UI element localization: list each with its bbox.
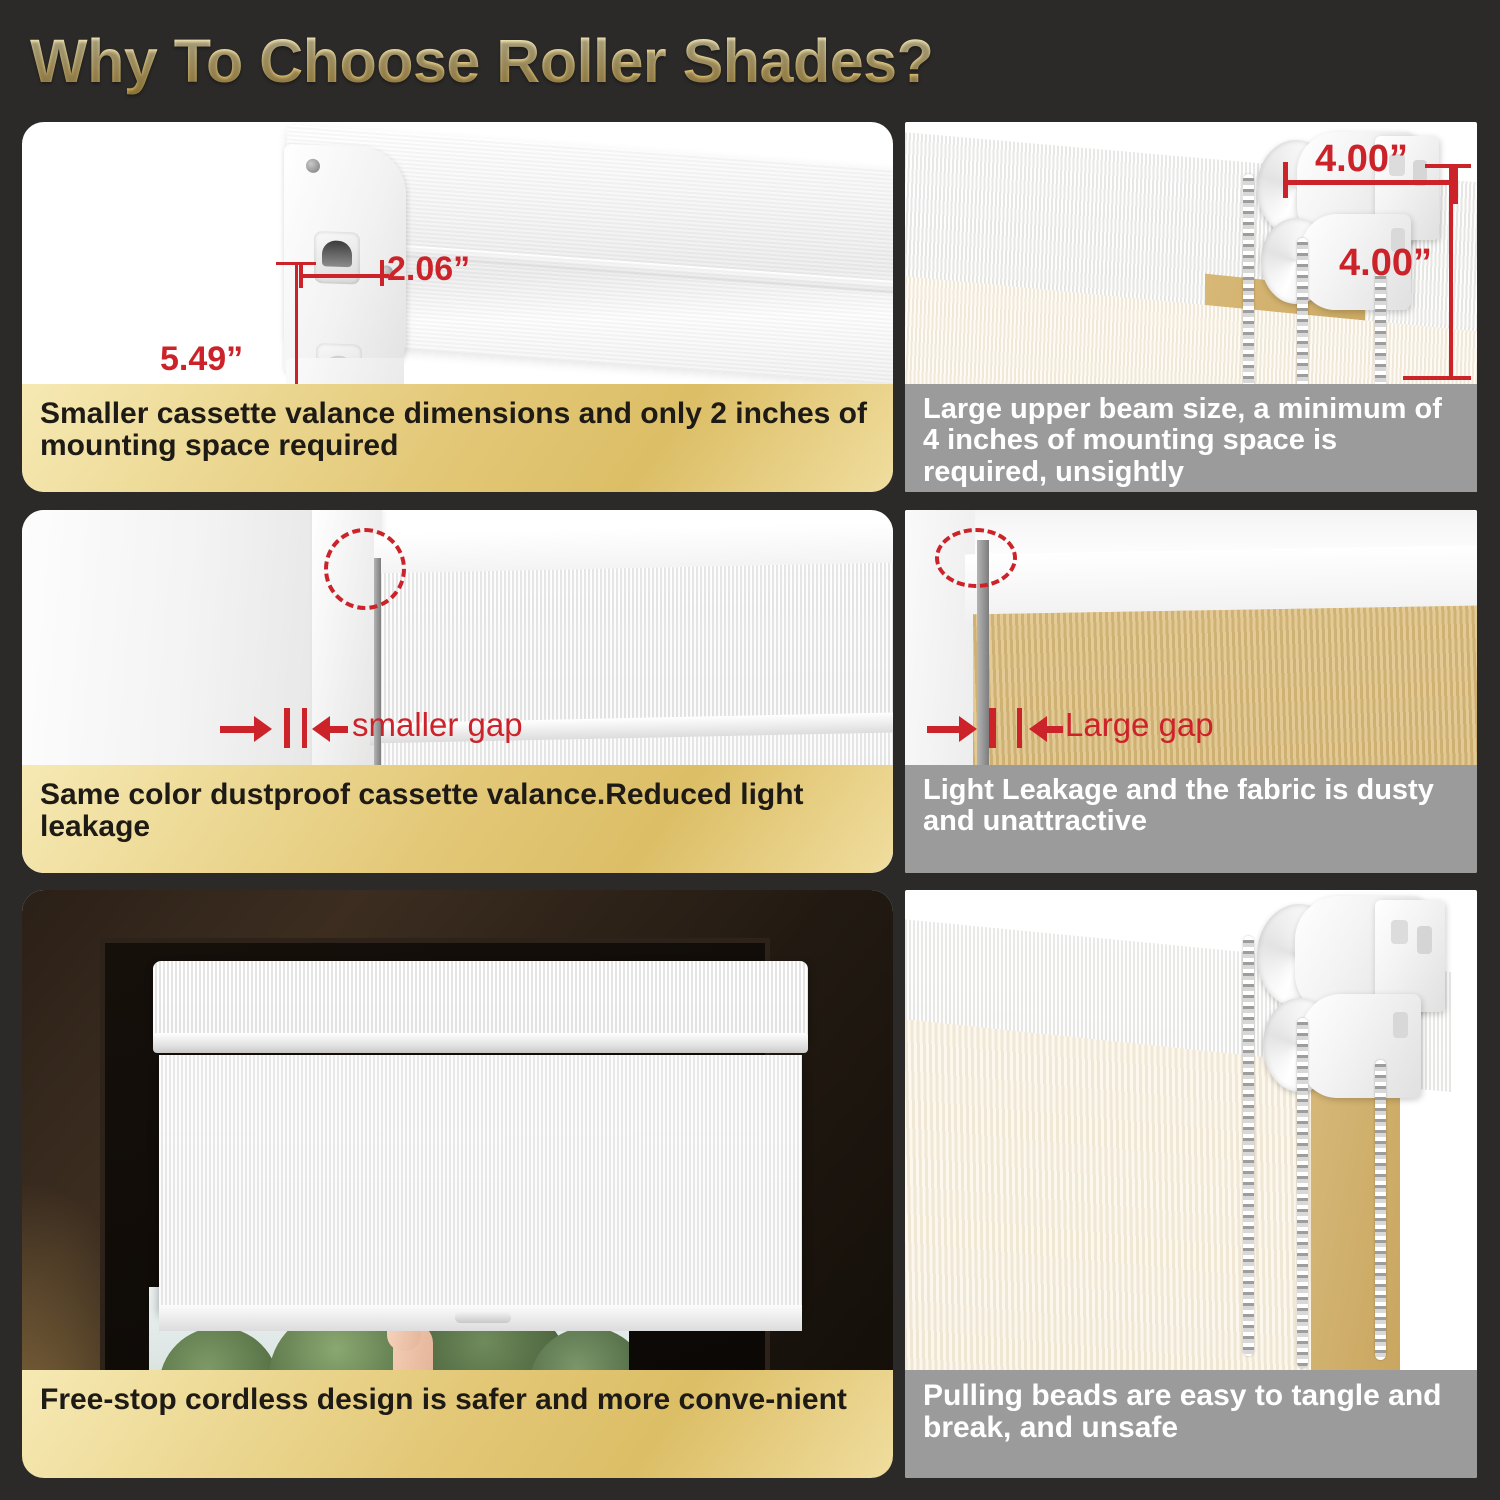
height-dim-line [1449, 164, 1453, 380]
window-recess [100, 938, 770, 1378]
gap-arrow-right-shaft [1045, 726, 1063, 733]
bead-chain-mid [1297, 1018, 1308, 1368]
beam-width-label: 4.00” [1315, 138, 1408, 181]
gap-arrow-right-shaft [328, 726, 348, 733]
gap-arrow-left-head-icon [254, 716, 272, 742]
bead-chain-right [1375, 1060, 1386, 1360]
mounting-bracket-lower [1301, 994, 1421, 1098]
page-title: Why To Choose Roller Shades? [30, 26, 933, 96]
panel-con-pulling-beads: Pulling beads are easy to tangle and bre… [905, 890, 1477, 1478]
gap-arrow-left-head-icon [959, 716, 977, 742]
shade-fabric [159, 1055, 802, 1311]
height-dim-tick-top [276, 262, 316, 265]
bottom-rail [159, 1305, 802, 1331]
large-gap-label: Large gap [1065, 706, 1214, 744]
valance-lip [153, 1033, 808, 1053]
grip-handle-icon [455, 1312, 511, 1323]
cassette-valance [153, 961, 808, 1041]
beam-height-label: 4.00” [1339, 242, 1432, 285]
caption-pro-cassette-dimensions: Smaller cassette valance dimensions and … [22, 384, 893, 492]
bracket-slot-icon-3 [1393, 1012, 1408, 1038]
width-dim-tick-left [1283, 162, 1288, 198]
width-dimension-label: 2.06” [387, 250, 470, 289]
panel-con-large-beam: 4.00” 4.00” Large upper beam size, a min… [905, 122, 1477, 492]
gap-tick-a [989, 708, 996, 748]
header-bar: Why To Choose Roller Shades? [0, 0, 1500, 122]
panel-pro-cassette-dimensions: 2.06” 5.49” Smaller cassette valance dim… [22, 122, 893, 492]
endcap-screw-icon [306, 159, 320, 173]
panel-con-light-leakage: Large gap Light Leakage and the fabric i… [905, 510, 1477, 873]
caption-con-pulling-beads: Pulling beads are easy to tangle and bre… [905, 1370, 1477, 1478]
gap-arrow-left-shaft [220, 726, 256, 733]
gap-tick-b [302, 708, 307, 748]
gap-tick-b [1017, 708, 1022, 748]
width-dim-line [299, 274, 389, 278]
bracket-slot-icon-1 [1391, 920, 1408, 944]
gap-arrow-left-shaft [927, 726, 961, 733]
bracket-slot-icon-2 [1417, 926, 1432, 954]
width-dim-tick-right [1453, 166, 1458, 204]
highlight-circle-icon [935, 528, 1017, 588]
width-dim-tick-left [299, 262, 303, 288]
height-dim-tick-top [1425, 164, 1471, 168]
caption-pro-cordless-design: Free-stop cordless design is safer and m… [22, 1370, 893, 1478]
caption-pro-dustproof-valance: Same color dustproof cassette valance.Re… [22, 765, 893, 873]
panel-pro-dustproof-valance: smaller gap Same color dustproof cassett… [22, 510, 893, 873]
height-dimension-label: 5.49” [160, 340, 243, 379]
smaller-gap-label: smaller gap [352, 706, 523, 744]
panel-pro-cordless-design: Free-stop cordless design is safer and m… [22, 890, 893, 1478]
gap-tick-a [284, 708, 290, 748]
bead-chain-left [1243, 936, 1254, 1356]
caption-con-large-beam: Large upper beam size, a minimum of 4 in… [905, 384, 1477, 492]
height-dim-tick-bottom [1403, 376, 1471, 380]
caption-con-light-leakage: Light Leakage and the fabric is dusty an… [905, 765, 1477, 873]
highlight-circle-icon [324, 528, 406, 610]
width-dim-tick-right [380, 260, 384, 286]
